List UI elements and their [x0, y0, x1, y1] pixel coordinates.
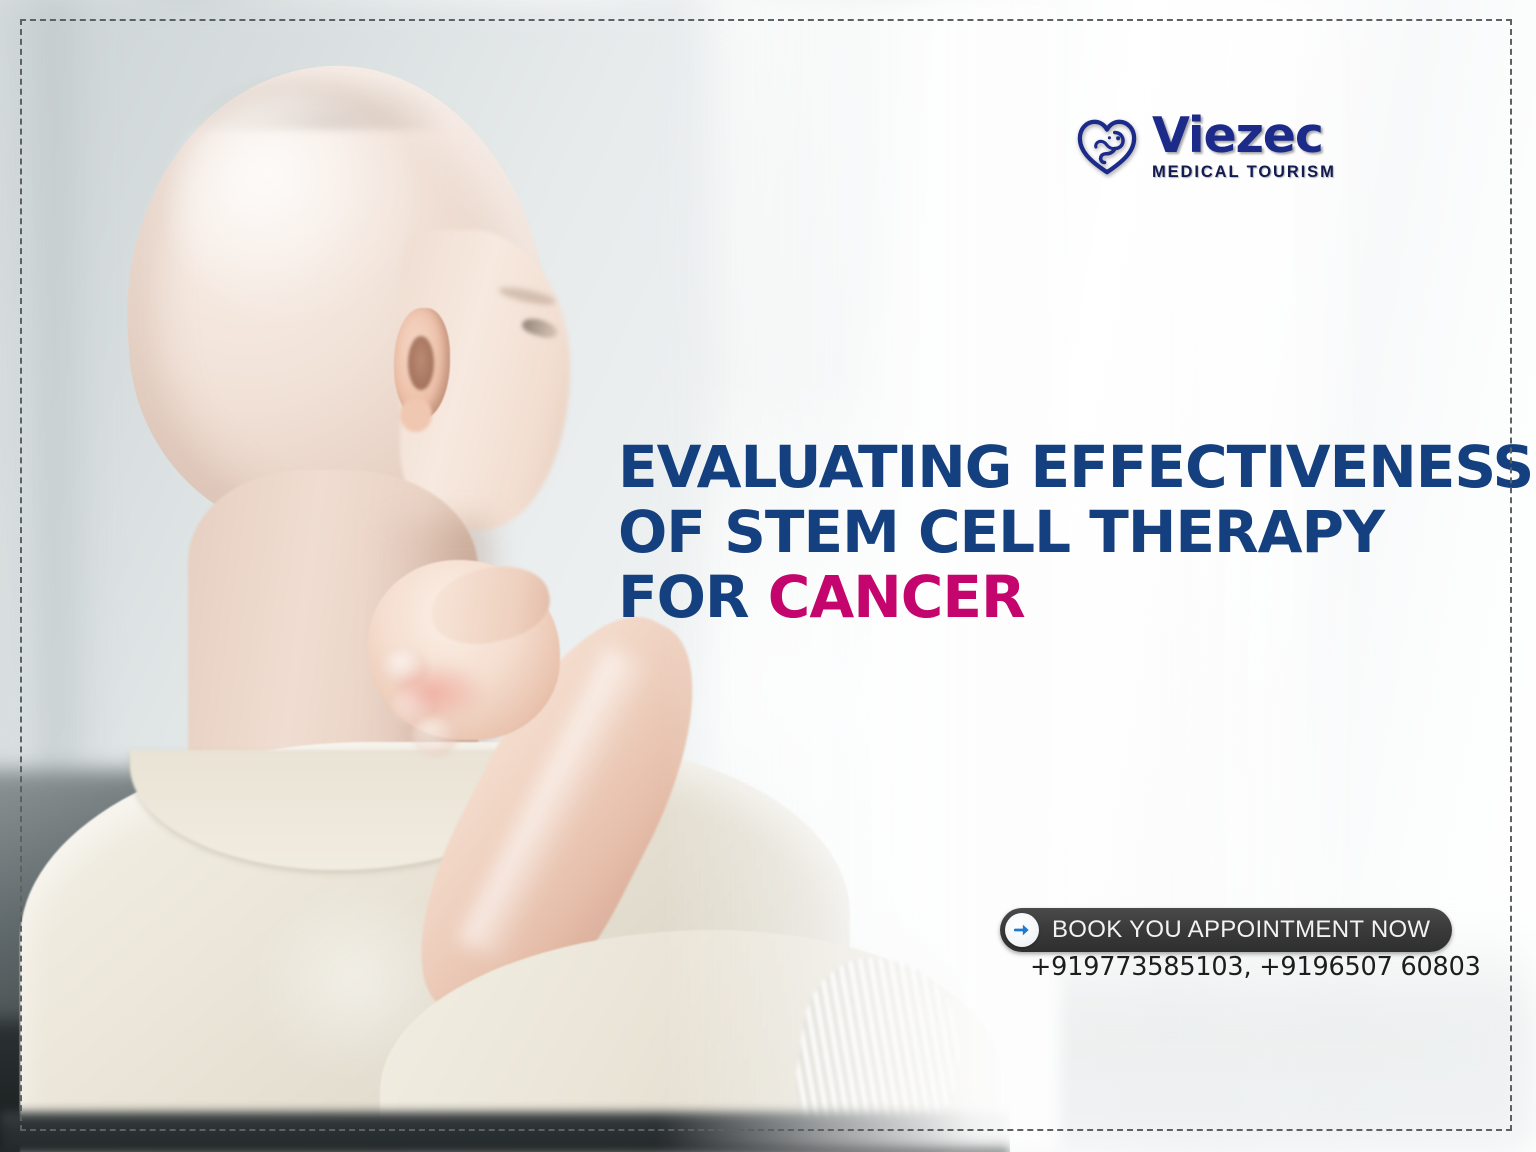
subject-head-highlight — [170, 92, 420, 322]
subject-ear-lobe — [400, 398, 432, 432]
heart-embryo-icon — [1076, 116, 1138, 178]
brand-name: Viezec — [1152, 112, 1323, 159]
arrow-right-icon — [1005, 913, 1039, 947]
headline-accent-word: CANCER — [768, 563, 1025, 631]
subject-ear-inner — [408, 336, 434, 390]
headline-line-3-prefix: FOR — [618, 563, 768, 631]
subject-finger-blush — [398, 662, 488, 722]
poster-canvas: Viezec MEDICAL TOURISM EVALUATING EFFECT… — [0, 0, 1536, 1152]
brand-tagline: MEDICAL TOURISM — [1152, 163, 1336, 182]
headline-line-3: FOR CANCER — [618, 565, 1388, 630]
page-title: EVALUATING EFFECTIVENESS OF STEM CELL TH… — [618, 435, 1388, 630]
headline-line-2: OF STEM CELL THERAPY — [618, 500, 1388, 565]
room-pillar — [40, 0, 100, 860]
book-appointment-label: BOOK YOU APPOINTMENT NOW — [1052, 916, 1430, 944]
contact-phone-numbers[interactable]: +919773585103, +9196507 60803 — [1030, 952, 1481, 982]
headline-line-1: EVALUATING EFFECTIVENESS — [618, 435, 1388, 500]
book-appointment-button[interactable]: BOOK YOU APPOINTMENT NOW — [1000, 908, 1452, 952]
brand-logo[interactable]: Viezec MEDICAL TOURISM — [1076, 112, 1336, 182]
subject-knuckle — [412, 716, 458, 756]
